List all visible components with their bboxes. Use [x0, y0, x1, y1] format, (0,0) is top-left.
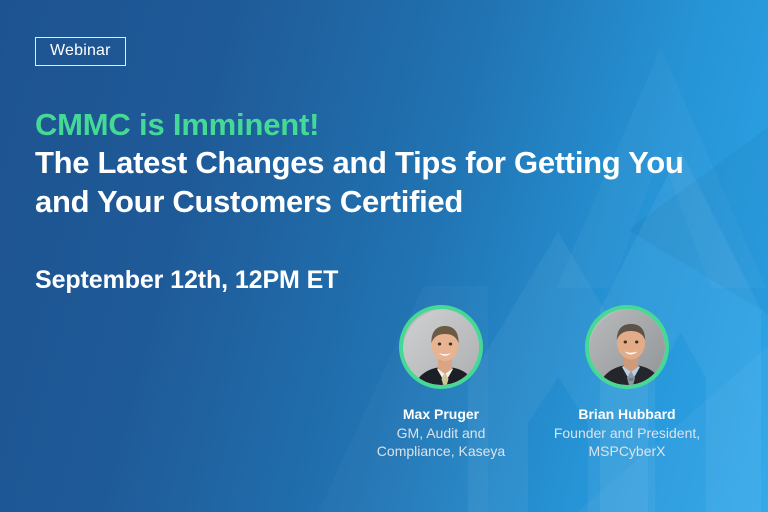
avatar	[399, 305, 483, 389]
speaker-card: Brian Hubbard Founder and President, MSP…	[534, 305, 720, 461]
headshot-brian-hubbard-icon	[589, 309, 665, 385]
speaker-card: Max Pruger GM, Audit and Compliance, Kas…	[348, 305, 534, 461]
speaker-title: GM, Audit and Compliance, Kaseya	[356, 425, 526, 461]
speaker-list: Max Pruger GM, Audit and Compliance, Kas…	[348, 305, 768, 461]
webinar-badge: Webinar	[35, 37, 126, 66]
webinar-promo-banner: Webinar CMMC is Imminent! The Latest Cha…	[0, 0, 768, 512]
speaker-name: Brian Hubbard	[578, 406, 675, 423]
headline-accent-line: CMMC is Imminent!	[35, 108, 735, 141]
headline-main-line: The Latest Changes and Tips for Getting …	[35, 144, 735, 222]
avatar	[585, 305, 669, 389]
headshot-max-pruger-icon	[403, 309, 479, 385]
event-datetime: September 12th, 12PM ET	[35, 266, 338, 295]
speaker-name: Max Pruger	[403, 406, 479, 423]
headline-block: CMMC is Imminent! The Latest Changes and…	[35, 108, 735, 222]
speaker-title: Founder and President, MSPCyberX	[542, 425, 712, 461]
